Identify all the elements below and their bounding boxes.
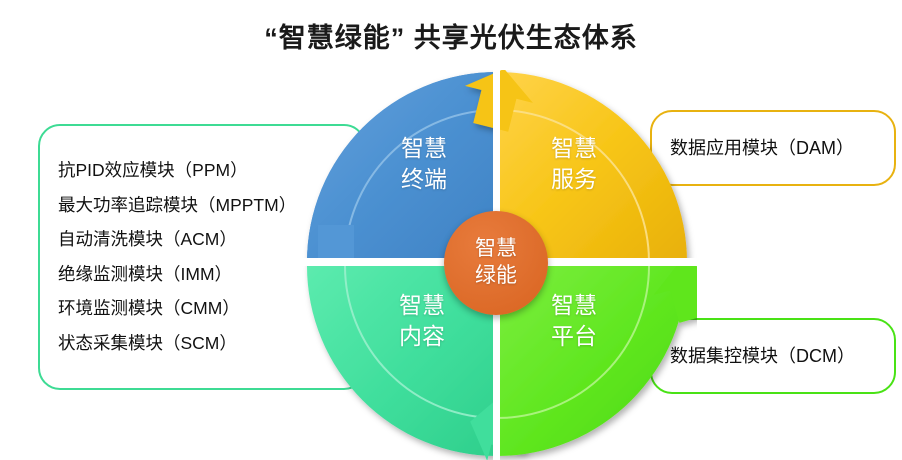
- dcm-label: 数据集控模块（DCM）: [670, 340, 894, 372]
- center-hub-text: 智慧 绿能: [475, 236, 517, 290]
- diagram-canvas: “智慧绿能” 共享光伏生态体系 抗PID效应模块（PPM） 最大功率追踪模块（M…: [0, 0, 902, 459]
- center-hub-line1: 智慧: [475, 237, 517, 260]
- center-hub[interactable]: 智慧 绿能: [444, 211, 548, 315]
- center-hub-line2: 绿能: [475, 264, 517, 287]
- page-title: “智慧绿能” 共享光伏生态体系: [0, 16, 902, 55]
- dam-label: 数据应用模块（DAM）: [670, 132, 894, 164]
